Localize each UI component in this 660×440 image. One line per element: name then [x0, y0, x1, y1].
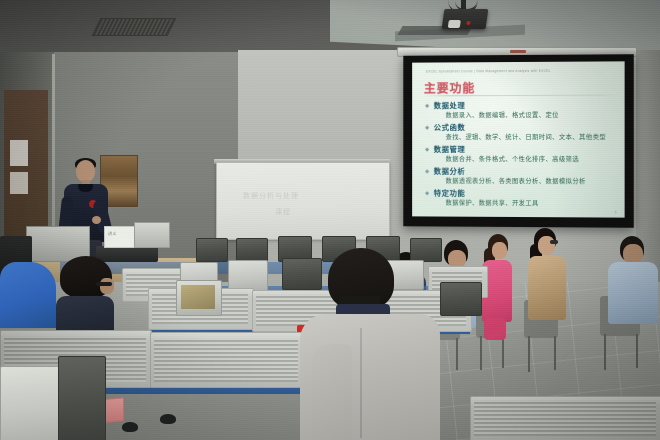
audience-member-tan-coat: [526, 228, 566, 324]
presentation-slide: EXCEL Spreadsheet Course | Data Manageme…: [412, 61, 624, 217]
slide-title-divider: [424, 95, 620, 97]
chair-leg: [554, 336, 556, 370]
slide-section-detail: 查找、逻辑、数学、统计、日期时间、文本、其他类型: [424, 133, 624, 143]
computer-mouse: [122, 422, 138, 432]
slide-section-heading: 数据管理: [424, 144, 624, 155]
projector-led-icon: [466, 21, 471, 25]
audience-member-dark-hair-front: [56, 256, 118, 328]
slide-section: 公式函数 查找、逻辑、数学、统计、日期时间、文本、其他类型: [424, 122, 624, 143]
chair-leg: [480, 336, 482, 370]
ceiling-vent: [92, 18, 177, 36]
eyeglasses-icon: [96, 282, 112, 286]
slide-title: 主要功能: [424, 79, 475, 96]
monitor-back: [196, 238, 228, 262]
slide-section: 数据管理 数据合并、条件格式、个性化排序、高级筛选: [424, 144, 624, 165]
screen-pull-knob[interactable]: [510, 50, 526, 53]
torso: [608, 262, 658, 324]
slide-page-number: 5: [615, 211, 617, 215]
presenter-head: [76, 160, 95, 182]
slide-section-detail: 数据录入、数据编辑、格式设置、定位: [424, 111, 624, 121]
wall-poster-lower: [10, 172, 28, 194]
monitor-back: [176, 280, 222, 316]
head: [623, 244, 643, 264]
slide-section-heading: 数据处理: [424, 100, 624, 112]
head: [492, 242, 507, 259]
monitor-back-foreground: [58, 356, 106, 440]
presenter-hand: [92, 216, 101, 224]
front-monitor: [134, 222, 170, 248]
slide-section: 特定功能 数据保护、数据共享、开发工具: [424, 188, 624, 210]
wall-poster-upper: [10, 140, 28, 166]
jacket-seam: [360, 328, 362, 438]
audience-member-blue-jacket: [0, 262, 58, 342]
face: [100, 278, 114, 294]
torso: [528, 256, 566, 320]
whiteboard-ghost-text-1: 数据分析与处理: [243, 191, 299, 201]
monitor-back-foreground: [0, 366, 62, 440]
chair-leg: [604, 334, 606, 370]
slide-header-text: EXCEL Spreadsheet Course | Data Manageme…: [426, 69, 551, 74]
classroom-photo: 数据分析与处理 课程 EXCEL Spreadsheet Course | Da…: [0, 0, 660, 440]
head: [538, 236, 555, 255]
audience-member-right-blue-shirt: [606, 236, 654, 326]
desk-panel-slats: [474, 400, 656, 436]
slide-section-detail: 数据合并、条件格式、个性化排序、高级筛选: [424, 155, 624, 165]
monitor-screen: [181, 285, 215, 309]
chair-leg: [636, 334, 638, 368]
lectern-handout-label: 讲义: [108, 231, 117, 237]
monitor-back: [236, 238, 268, 262]
ceiling-projector: [442, 9, 489, 29]
slide-section: 数据处理 数据录入、数据编辑、格式设置、定位: [424, 100, 624, 121]
foreground-person-gray-suit: [300, 248, 440, 440]
eyeglasses-icon: [550, 240, 558, 244]
slide-section-heading: 公式函数: [424, 122, 624, 133]
slide-body: 数据处理 数据录入、数据编辑、格式设置、定位 公式函数 查找、逻辑、数学、统计、…: [424, 100, 624, 211]
slide-section-heading: 特定功能: [424, 188, 624, 200]
jacket: [0, 262, 56, 328]
whiteboard-ghost-text-2: 课程: [275, 207, 291, 217]
whiteboard: 数据分析与处理 课程: [216, 162, 390, 240]
chair-leg: [456, 338, 458, 370]
computer-mouse: [160, 414, 176, 424]
chair-leg: [528, 336, 530, 372]
slide-section-detail: 数据保护、数据共享、开发工具: [424, 199, 624, 210]
jacket-sleeve: [312, 344, 352, 440]
slide-section-detail: 数据透视表分析、各类图表分析、数据模拟分析: [424, 177, 624, 188]
torso: [56, 296, 114, 330]
slide-section: 数据分析 数据透视表分析、各类图表分析、数据模拟分析: [424, 166, 624, 188]
chair-leg: [502, 336, 504, 368]
legs: [484, 318, 506, 340]
projection-screen: EXCEL Spreadsheet Course | Data Manageme…: [403, 54, 633, 228]
projector-lens-icon: [448, 20, 461, 28]
monitor-back: [440, 282, 482, 316]
slide-section-heading: 数据分析: [424, 166, 624, 177]
desk-panel-slats: [154, 338, 298, 382]
